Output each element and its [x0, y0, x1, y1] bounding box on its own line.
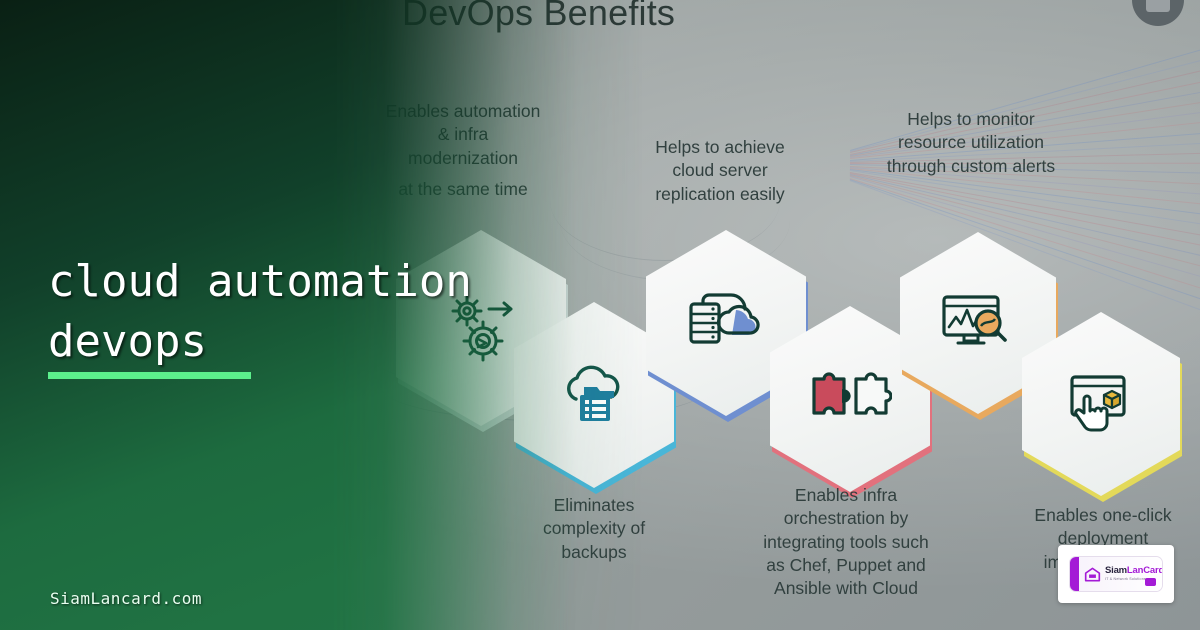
caption-line: orchestration by	[756, 507, 936, 530]
badge-stripe	[1070, 557, 1079, 591]
badge-name-suffix: LanCard	[1127, 565, 1162, 576]
headline-line-2: devops	[48, 312, 608, 372]
badge-name-prefix: Siam	[1105, 565, 1127, 576]
brand-badge[interactable]: SiamLanCard IT & Network Solutions	[1058, 545, 1174, 603]
headline-line-1: cloud automation	[48, 256, 472, 307]
caption-line: Ansible with Cloud	[756, 577, 936, 600]
caption-line: Helps to monitor	[862, 108, 1080, 131]
caption-orchestration: Enables infra orchestration by integrati…	[756, 484, 936, 600]
one-click-deploy-hand-icon	[1066, 373, 1136, 435]
caption-line: Enables one-click	[1012, 504, 1194, 527]
caption-line: integrating tools such	[756, 531, 936, 554]
badge-brand-name: SiamLanCard	[1105, 566, 1162, 576]
site-watermark: SiamLancard.com	[50, 589, 202, 608]
caption-line: Enables infra	[756, 484, 936, 507]
mail-box-icon	[1084, 567, 1101, 582]
screenshot-stage: DevOps Benefits	[0, 0, 1200, 630]
puzzle-pieces-icon	[808, 368, 892, 430]
caption-line: resource utilization	[862, 131, 1080, 154]
caption-monitoring: Helps to monitor resource utilization th…	[862, 108, 1080, 178]
badge-chip-icon	[1145, 578, 1156, 586]
caption-line: as Chef, Puppet and	[756, 554, 936, 577]
accent-underline	[48, 372, 251, 379]
caption-line: through custom alerts	[862, 155, 1080, 178]
brand-badge-card: SiamLanCard IT & Network Solutions	[1070, 557, 1162, 591]
monitor-analytics-search-icon	[940, 293, 1016, 353]
page-title: cloud automation devops	[48, 252, 608, 372]
